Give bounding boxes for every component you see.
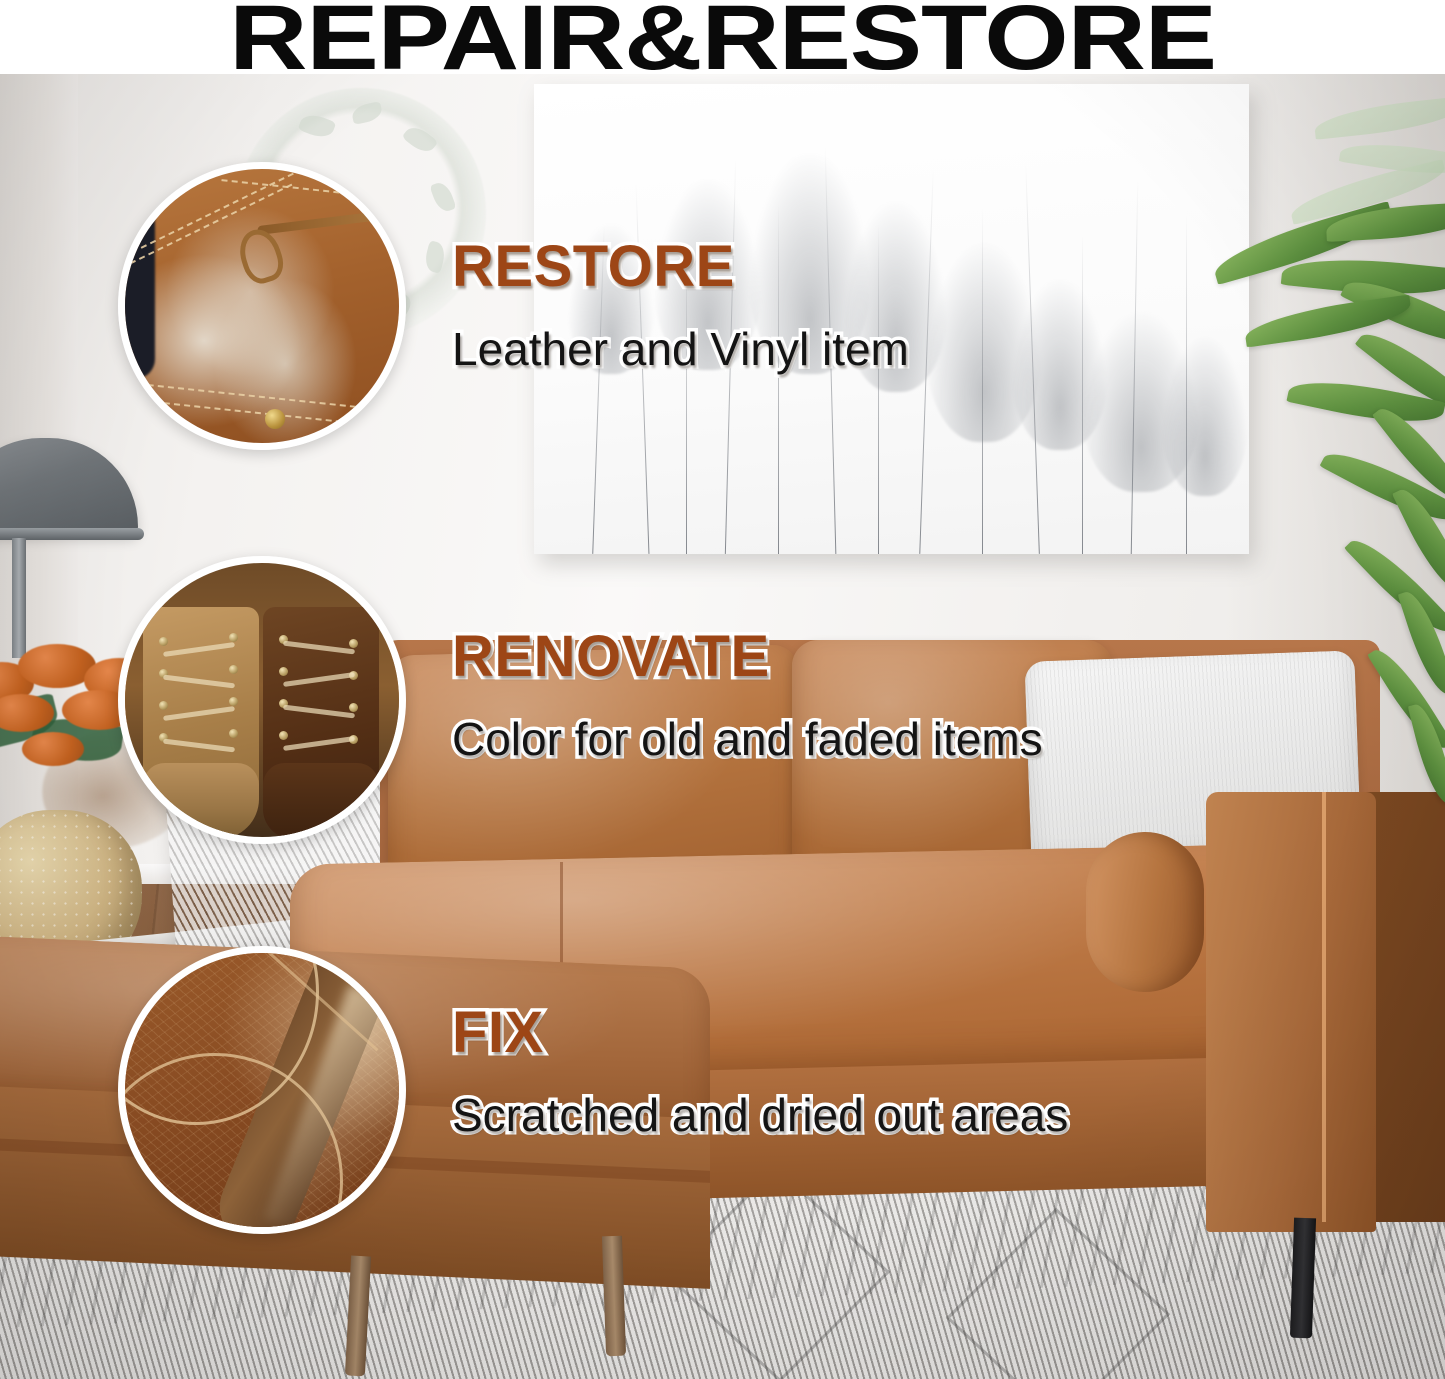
restored-boot (263, 607, 379, 839)
scratched-leather-closeup-photo (118, 946, 406, 1234)
feature-subtitle-restore: Leather and Vinyl item (452, 326, 909, 372)
mouldy-leather-bag-photo (118, 162, 406, 450)
zipper-pull-icon (234, 224, 289, 288)
rivet-icon (265, 409, 285, 429)
sofa-leg (1290, 1218, 1316, 1339)
feature-title-renovate: RENOVATE (452, 628, 770, 686)
wall-art-painting (534, 84, 1249, 554)
fix-photo-circle (118, 946, 406, 1234)
ottoman-leg (602, 1236, 626, 1357)
product-feature-image: REPAIR&RESTORE RESTORE Leather and Vinyl… (0, 0, 1445, 1379)
feature-subtitle-fix: Scratched and dried out areas (452, 1092, 1068, 1138)
feature-title-fix: FIX (452, 1004, 544, 1062)
feature-subtitle-renovate: Color for old and faded items (452, 716, 1043, 762)
renovate-photo-circle (118, 556, 406, 844)
wall-art-canvas (534, 84, 1249, 554)
houseplant (1222, 120, 1445, 880)
faded-vs-restored-boots-photo (118, 556, 406, 844)
feature-title-restore: RESTORE (452, 238, 735, 296)
restore-photo-circle (118, 162, 406, 450)
leather-bolster-pillow (1086, 832, 1204, 992)
page-title: REPAIR&RESTORE (0, 0, 1445, 91)
faded-boot (143, 607, 259, 839)
